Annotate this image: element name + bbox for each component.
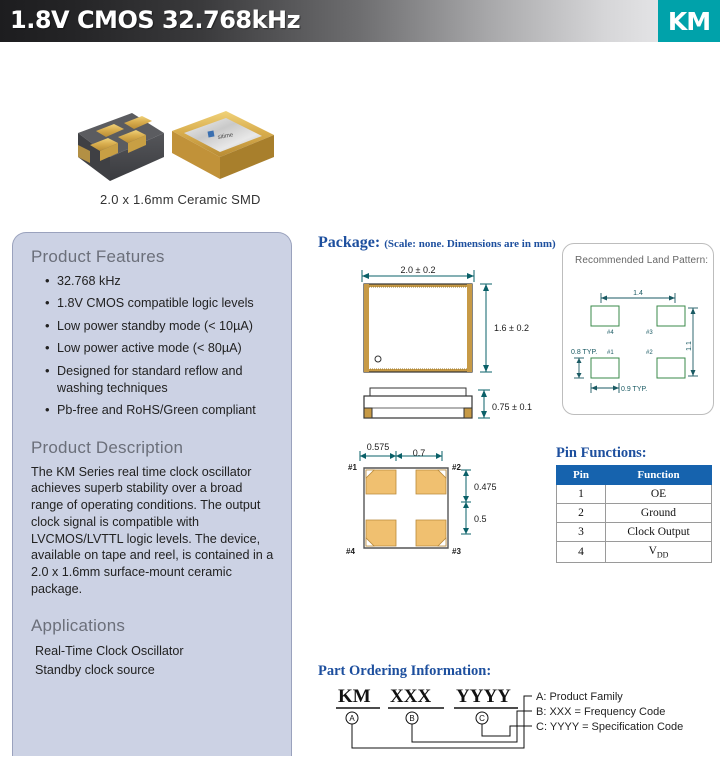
column-header-pin: Pin (557, 466, 606, 485)
features-list: 32.768 kHz 1.8V CMOS compatible logic le… (31, 273, 275, 420)
table-row: 1 OE (557, 485, 712, 504)
land-dim-width: 1.4 (633, 290, 643, 297)
pin-functions-table: Pin Function 1 OE 2 Ground 3 Clock Outpu… (556, 465, 712, 563)
page-title: 1.8V CMOS 32.768kHz (10, 6, 300, 34)
land-dim-pad-w: 0.9 TYP. (621, 386, 647, 393)
list-item: 1.8V CMOS compatible logic levels (47, 295, 275, 312)
list-item: Pb-free and RoHS/Green compliant (47, 402, 275, 419)
vdd-sub: DD (657, 550, 669, 559)
package-photo-right: sitime (172, 111, 274, 179)
ordering-heading: Part Ordering Information: (318, 663, 491, 680)
product-info-panel: Product Features 32.768 kHz 1.8V CMOS co… (12, 232, 292, 756)
features-heading: Product Features (31, 247, 275, 267)
cell-function: OE (606, 485, 712, 504)
land-pin-4: #4 (607, 330, 614, 336)
land-dim-pad-h: 0.8 TYP. (571, 349, 597, 356)
list-item: Low power standby mode (< 10µA) (47, 318, 275, 335)
description-heading: Product Description (31, 438, 275, 458)
product-photo: sitime (60, 95, 300, 205)
land-pattern-title: Recommended Land Pattern: (575, 255, 708, 266)
table-row: 2 Ground (557, 504, 712, 523)
land-pin-1: #1 (607, 350, 614, 356)
page-header: 1.8V CMOS 32.768kHz KM (0, 0, 720, 42)
bottom-pin-1: #1 (348, 463, 357, 472)
package-heading-label: Package: (318, 234, 380, 251)
bottom-dim-07: 0.7 (413, 448, 426, 458)
list-item: 32.768 kHz (47, 273, 275, 290)
land-dim-height: 1.1 (686, 341, 693, 351)
side-height-dim: 0.75 ± 0.1 (492, 402, 532, 412)
package-drawings: 2.0 ± 0.2 1.6 ± 0.2 (318, 258, 548, 578)
order-code-part-b: XXX (390, 686, 431, 707)
order-marker-b: B (409, 714, 414, 723)
order-code-part-a: KM (338, 686, 371, 707)
table-row: 3 Clock Output (557, 523, 712, 542)
list-item: Real-Time Clock Oscillator (31, 642, 275, 662)
cell-pin: 2 (557, 504, 606, 523)
top-width-dim: 2.0 ± 0.2 (401, 265, 436, 275)
logo-text: KM (668, 7, 710, 36)
cell-pin: 3 (557, 523, 606, 542)
km-logo: KM (658, 0, 720, 42)
bottom-pin-3: #3 (452, 547, 461, 556)
list-item: Low power active mode (< 80µA) (47, 340, 275, 357)
bottom-dim-05: 0.5 (474, 514, 487, 524)
bottom-pin-4: #4 (346, 547, 355, 556)
order-legend-c: C: YYYY = Specification Code (536, 721, 683, 733)
order-marker-a: A (349, 714, 355, 723)
column-header-function: Function (606, 466, 712, 485)
package-bottom-view: 0.575 0.7 #1 #2 #3 #4 (346, 442, 497, 556)
order-marker-c: C (479, 714, 485, 723)
vdd-base: V (649, 545, 657, 557)
bottom-dim-0575: 0.575 (367, 442, 390, 452)
pin-functions-heading: Pin Functions: (556, 445, 647, 462)
land-pin-2: #2 (646, 350, 653, 356)
table-row: 4 VDD (557, 542, 712, 563)
cell-pin: 4 (557, 542, 606, 563)
cell-function: Clock Output (606, 523, 712, 542)
photo-caption: 2.0 x 1.6mm Ceramic SMD (100, 192, 261, 207)
package-top-view: 2.0 ± 0.2 1.6 ± 0.2 (362, 265, 529, 372)
top-height-dim: 1.6 ± 0.2 (494, 323, 529, 333)
applications-heading: Applications (31, 616, 275, 636)
land-pin-3: #3 (646, 330, 653, 336)
list-item: Standby clock source (31, 661, 275, 681)
cell-function: VDD (606, 542, 712, 563)
order-legend-b: B: XXX = Frequency Code (536, 706, 665, 718)
cell-pin: 1 (557, 485, 606, 504)
package-heading: Package: (Scale: none. Dimensions are in… (318, 234, 556, 252)
list-item: Designed for standard reflow and washing… (47, 363, 275, 398)
order-legend-a: A: Product Family (536, 691, 623, 703)
order-code-part-c: YYYY (456, 686, 511, 707)
package-photo-left (78, 113, 164, 181)
bottom-pin-2: #2 (452, 463, 461, 472)
package-side-view: 0.75 ± 0.1 (364, 388, 532, 418)
cell-function: Ground (606, 504, 712, 523)
land-pattern-box: Recommended Land Pattern: 1.4 #4 #3 #1 #… (562, 243, 714, 415)
bottom-dim-0475: 0.475 (474, 482, 497, 492)
package-scale-note: (Scale: none. Dimensions are in mm) (384, 238, 556, 250)
ordering-diagram: KM XXX YYYY A B C A: Product Family B: X… (318, 682, 718, 756)
table-header-row: Pin Function (557, 466, 712, 485)
description-text: The KM Series real time clock oscillator… (31, 464, 275, 598)
